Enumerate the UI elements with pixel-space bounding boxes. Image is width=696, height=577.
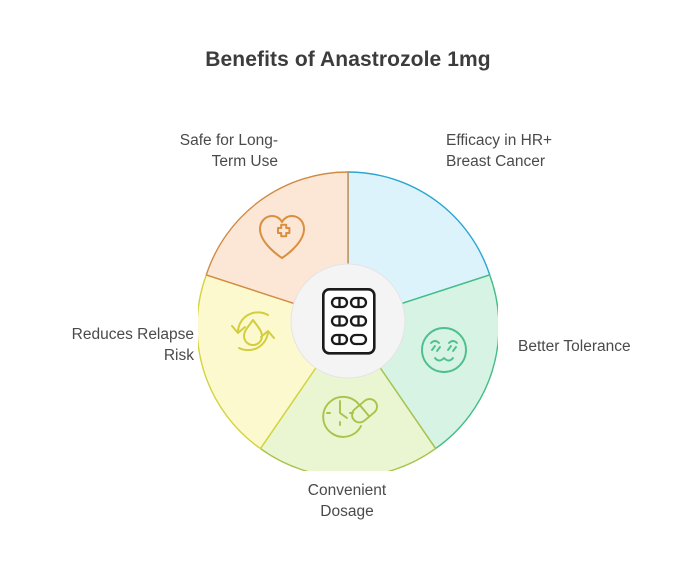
blister-pack-icon bbox=[323, 289, 374, 353]
segment-label-efficacy: Efficacy in HR+ Breast Cancer bbox=[446, 131, 676, 172]
segment-label-convenient: Convenient Dosage bbox=[248, 481, 446, 522]
segment-label-reduces: Reduces Relapse Risk bbox=[6, 325, 194, 366]
segment-label-safe: Safe for Long- Term Use bbox=[60, 131, 278, 172]
page-title: Benefits of Anastrozole 1mg bbox=[0, 48, 696, 72]
center-hub bbox=[291, 264, 405, 378]
benefits-wheel-chart bbox=[198, 171, 498, 471]
wheel-svg bbox=[198, 171, 498, 471]
segment-label-tolerance: Better Tolerance bbox=[518, 337, 696, 358]
